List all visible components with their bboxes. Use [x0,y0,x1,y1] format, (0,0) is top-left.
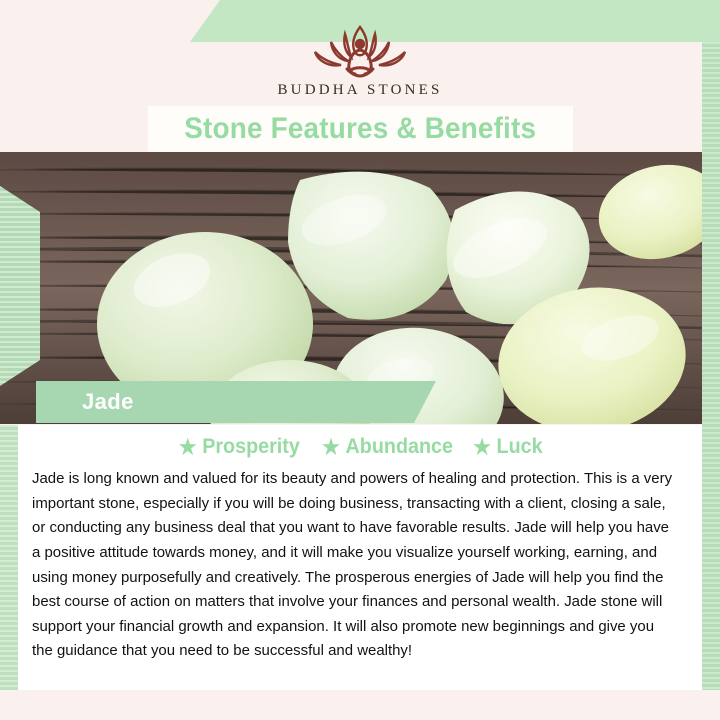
stone-name-band: Jade [36,381,436,423]
benefit-item-abundance: ★ Abundance [322,435,453,459]
photo-accent-texture [0,186,40,386]
stone-name-label: Jade [82,389,134,415]
bottom-background-strip [0,690,720,720]
brand-name: BUDDHA STONES [0,82,720,99]
benefit-label: Luck [497,435,543,459]
description-panel: ★ Prosperity ★ Abundance ★ Luck Jade is … [18,425,702,690]
star-icon: ★ [473,437,491,458]
benefit-item-luck: ★ Luck [473,435,542,459]
right-green-texture [702,42,720,690]
star-icon: ★ [179,437,197,458]
left-green-strip [0,425,18,690]
photo-left-green-accent [0,186,40,386]
benefit-label: Prosperity [202,435,300,459]
stone-info-card: BUDDHA STONES Stone Features & Benefits [0,0,720,720]
star-icon: ★ [322,437,340,458]
description-text: Jade is long known and valued for its be… [32,467,678,664]
title-banner: Stone Features & Benefits [148,106,573,152]
benefit-label: Abundance [345,435,452,459]
benefit-item-prosperity: ★ Prosperity [179,435,300,459]
right-green-strip [702,42,720,690]
lotus-meditation-icon [0,14,720,80]
left-green-texture [0,425,18,690]
benefits-row: ★ Prosperity ★ Abundance ★ Luck [18,429,702,465]
brand-logo: BUDDHA STONES [0,14,720,99]
page-title: Stone Features & Benefits [185,112,537,146]
